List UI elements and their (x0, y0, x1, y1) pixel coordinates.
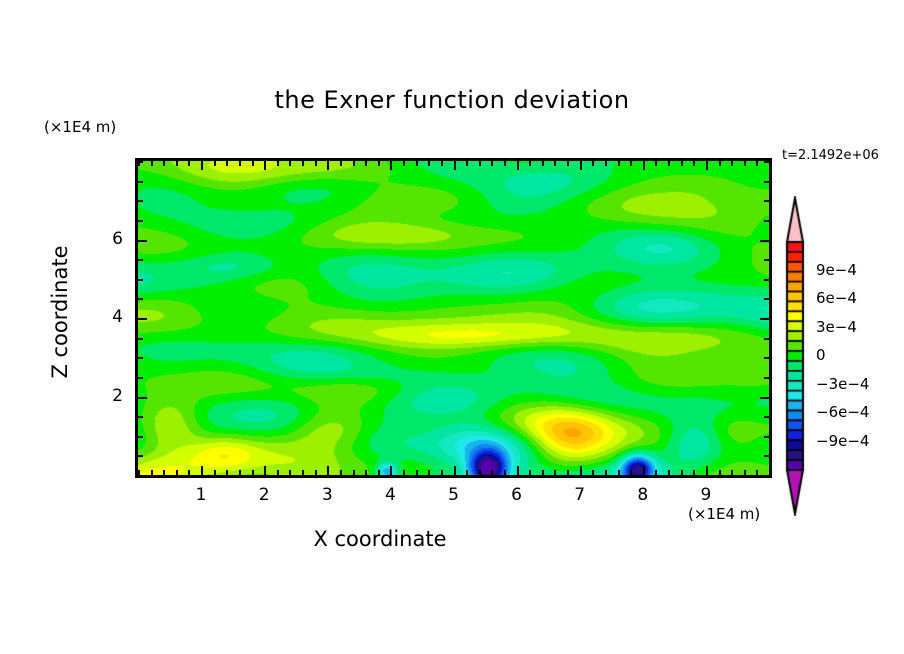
axis-tick (764, 475, 769, 477)
axis-tick (764, 259, 769, 261)
axis-tick (764, 416, 769, 418)
x-tick-label: 6 (492, 485, 542, 505)
axis-tick (441, 470, 443, 475)
axis-tick (655, 161, 657, 166)
axis-tick (554, 470, 556, 475)
axis-tick (681, 161, 683, 166)
axis-tick (769, 470, 771, 475)
axis-tick (252, 161, 254, 166)
colorbar[interactable] (778, 196, 812, 516)
axis-tick (302, 161, 304, 166)
contour-plot-area[interactable] (135, 158, 772, 478)
axis-tick (454, 466, 456, 475)
axis-tick (479, 470, 481, 475)
axis-tick (760, 397, 769, 399)
axis-tick (466, 161, 468, 166)
axis-tick (315, 161, 317, 166)
axis-tick (138, 200, 143, 202)
axis-tick (760, 240, 769, 242)
axis-tick (138, 436, 143, 438)
axis-tick (138, 279, 143, 281)
axis-tick (630, 161, 632, 166)
axis-tick (744, 470, 746, 475)
axis-tick (176, 161, 178, 166)
axis-tick (201, 161, 203, 170)
x-tick-label: 2 (239, 485, 289, 505)
axis-tick (138, 161, 143, 163)
axis-tick (151, 470, 153, 475)
axis-tick (416, 161, 418, 166)
axis-tick (764, 357, 769, 359)
axis-tick (226, 161, 228, 166)
axis-tick (756, 161, 758, 166)
axis-tick (353, 470, 355, 475)
axis-tick (756, 470, 758, 475)
colorbar-tick-label: 0 (816, 346, 826, 364)
axis-tick (188, 161, 190, 166)
x-tick-label: 4 (365, 485, 415, 505)
axis-tick (630, 470, 632, 475)
axis-tick (567, 470, 569, 475)
axis-tick (760, 318, 769, 320)
axis-tick (138, 240, 147, 242)
axis-tick (428, 470, 430, 475)
axis-tick (327, 161, 329, 170)
axis-tick (554, 161, 556, 166)
axis-tick (491, 161, 493, 166)
axis-tick (327, 466, 329, 475)
axis-tick (706, 466, 708, 475)
axis-tick (567, 161, 569, 166)
axis-tick (176, 470, 178, 475)
axis-tick (138, 298, 143, 300)
axis-tick (668, 161, 670, 166)
axis-tick (719, 161, 721, 166)
axis-tick (403, 470, 405, 475)
axis-tick (138, 455, 143, 457)
axis-tick (764, 220, 769, 222)
colorbar-tick-label: −3e−4 (816, 375, 869, 393)
axis-tick (390, 466, 392, 475)
axis-tick (315, 470, 317, 475)
axis-tick (340, 470, 342, 475)
axis-tick (764, 455, 769, 457)
contour-field-canvas (138, 161, 769, 475)
axis-tick (365, 470, 367, 475)
axis-tick (138, 416, 143, 418)
axis-tick (340, 161, 342, 166)
x-axis-title: X coordinate (0, 527, 760, 551)
page-title: the Exner function deviation (0, 86, 904, 114)
axis-tick (479, 161, 481, 166)
axis-tick (289, 161, 291, 166)
axis-tick (542, 161, 544, 166)
axis-tick (731, 161, 733, 166)
axis-tick (454, 161, 456, 170)
axis-tick (491, 470, 493, 475)
axis-tick (138, 220, 143, 222)
x-axis-unit-label: (×1E4 m) (688, 505, 760, 523)
axis-tick (655, 470, 657, 475)
colorbar-canvas (778, 196, 812, 516)
axis-tick (466, 470, 468, 475)
axis-tick (693, 161, 695, 166)
axis-tick (163, 161, 165, 166)
colorbar-tick-label: 6e−4 (816, 289, 857, 307)
axis-tick (764, 298, 769, 300)
axis-tick (201, 466, 203, 475)
axis-tick (214, 161, 216, 166)
axis-tick (151, 161, 153, 166)
axis-tick (504, 161, 506, 166)
y-tick-label: 4 (87, 307, 123, 327)
axis-tick (138, 338, 143, 340)
axis-tick (719, 470, 721, 475)
axis-tick (529, 470, 531, 475)
axis-tick (542, 470, 544, 475)
axis-tick (138, 357, 143, 359)
axis-tick (592, 470, 594, 475)
axis-tick (706, 161, 708, 170)
axis-tick (744, 161, 746, 166)
axis-tick (264, 161, 266, 170)
axis-tick (390, 161, 392, 170)
axis-tick (764, 279, 769, 281)
axis-tick (188, 470, 190, 475)
axis-tick (138, 475, 143, 477)
axis-tick (618, 470, 620, 475)
axis-tick (214, 470, 216, 475)
axis-tick (517, 161, 519, 170)
y-tick-label: 2 (87, 386, 123, 406)
axis-tick (681, 470, 683, 475)
axis-tick (764, 200, 769, 202)
axis-tick (264, 466, 266, 475)
axis-tick (580, 466, 582, 475)
colorbar-tick-label: −9e−4 (816, 432, 869, 450)
axis-tick (517, 466, 519, 475)
axis-tick (764, 436, 769, 438)
x-tick-label: 5 (429, 485, 479, 505)
axis-tick (605, 161, 607, 166)
y-axis-title: Z coordinate (48, 192, 72, 432)
axis-tick (277, 470, 279, 475)
axis-tick (289, 470, 291, 475)
axis-tick (138, 397, 147, 399)
axis-tick (504, 470, 506, 475)
colorbar-tick-label: 3e−4 (816, 318, 857, 336)
axis-tick (365, 161, 367, 166)
axis-tick (378, 161, 380, 166)
axis-tick (353, 161, 355, 166)
colorbar-tick-label: 9e−4 (816, 261, 857, 279)
axis-tick (378, 470, 380, 475)
axis-tick (239, 470, 241, 475)
x-tick-label: 3 (302, 485, 352, 505)
axis-tick (668, 470, 670, 475)
axis-tick (731, 470, 733, 475)
axis-tick (138, 181, 143, 183)
axis-tick (592, 161, 594, 166)
axis-tick (764, 377, 769, 379)
axis-tick (239, 161, 241, 166)
x-tick-label: 8 (618, 485, 668, 505)
axis-tick (764, 161, 769, 163)
axis-tick (764, 338, 769, 340)
axis-tick (138, 259, 143, 261)
axis-tick (428, 161, 430, 166)
axis-tick (252, 470, 254, 475)
y-tick-label: 6 (87, 229, 123, 249)
axis-tick (302, 470, 304, 475)
timestamp-label: t=2.1492e+06 (782, 148, 879, 163)
axis-tick (769, 161, 771, 166)
axis-tick (416, 470, 418, 475)
axis-tick (643, 466, 645, 475)
axis-tick (693, 470, 695, 475)
axis-tick (605, 470, 607, 475)
axis-tick (138, 377, 143, 379)
axis-tick (618, 161, 620, 166)
axis-tick (277, 161, 279, 166)
axis-tick (138, 318, 147, 320)
x-tick-label: 9 (681, 485, 731, 505)
axis-tick (403, 161, 405, 166)
axis-tick (580, 161, 582, 170)
axis-tick (764, 181, 769, 183)
x-tick-label: 1 (176, 485, 226, 505)
axis-tick (643, 161, 645, 170)
y-axis-unit-label: (×1E4 m) (44, 118, 116, 136)
axis-tick (441, 161, 443, 166)
axis-tick (529, 161, 531, 166)
x-tick-label: 7 (555, 485, 605, 505)
axis-tick (163, 470, 165, 475)
colorbar-tick-label: −6e−4 (816, 403, 869, 421)
axis-tick (226, 470, 228, 475)
